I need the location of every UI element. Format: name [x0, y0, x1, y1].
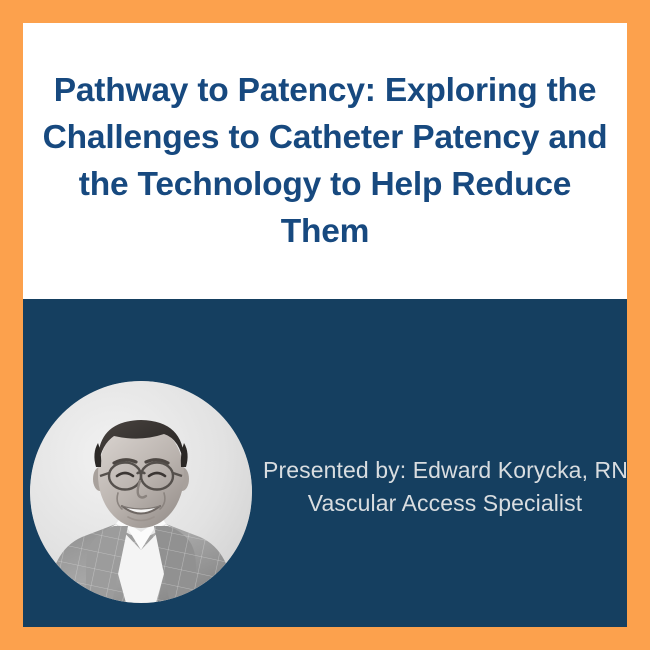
- avatar: [30, 381, 252, 603]
- presenter-info: Presented by: Edward Korycka, RN Vascula…: [263, 454, 627, 520]
- title-slide: Pathway to Patency: Exploring the Challe…: [0, 0, 650, 650]
- title-panel: Pathway to Patency: Exploring the Challe…: [23, 23, 627, 299]
- presenter-panel: Presented by: Edward Korycka, RN Vascula…: [23, 299, 627, 627]
- page-title: Pathway to Patency: Exploring the Challe…: [33, 67, 617, 255]
- presenter-role: Vascular Access Specialist: [263, 487, 627, 520]
- presenter-name: Presented by: Edward Korycka, RN: [263, 454, 627, 487]
- slide-inner-content: Pathway to Patency: Exploring the Challe…: [23, 23, 627, 627]
